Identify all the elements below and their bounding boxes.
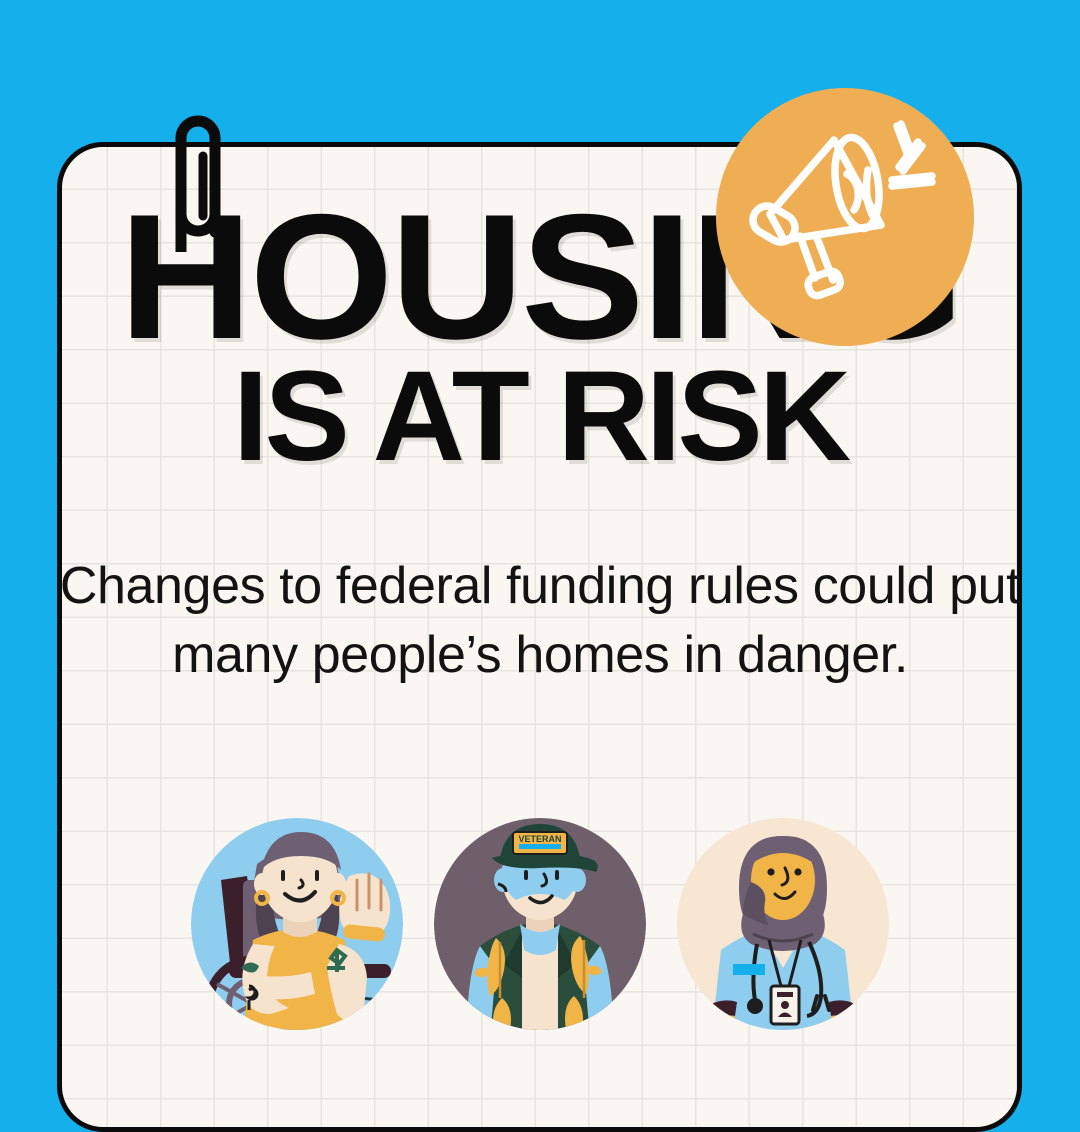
body-line-1: Changes to federal funding rules could p… — [0, 552, 1080, 621]
avatar-row: VETERAN — [0, 818, 1080, 1030]
avatar-wheelchair-user — [191, 818, 403, 1030]
avatar-healthcare-worker — [677, 818, 889, 1030]
megaphone-badge — [716, 88, 974, 346]
body-text: Changes to federal funding rules could p… — [0, 552, 1080, 689]
avatar-veteran: VETERAN — [434, 818, 646, 1030]
paperclip-icon — [170, 104, 226, 252]
body-line-2: many people’s homes in danger. — [0, 621, 1080, 690]
svg-text:VETERAN: VETERAN — [518, 834, 561, 844]
page-subtitle: IS AT RISK — [0, 359, 1080, 474]
megaphone-icon — [716, 88, 974, 346]
